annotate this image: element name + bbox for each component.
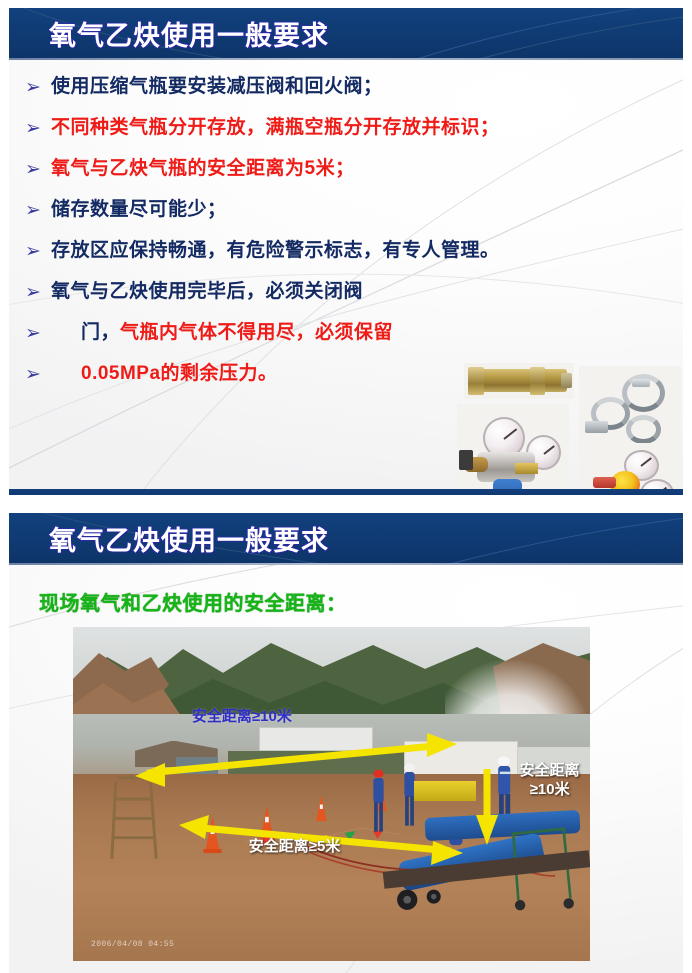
acetylene-stem: [597, 457, 607, 479]
annotation-10m-right: 安全距离 ≥10米: [520, 761, 580, 799]
arrestor-nut-left: [468, 367, 483, 395]
annotation-10m-right-line2: ≥10米: [520, 780, 580, 799]
bullet-item: ➢ 门，气瓶内气体不得用尽，必须保留: [23, 318, 493, 359]
bullet-arrow-icon: ➢: [23, 72, 51, 102]
bullet-item: ➢ 不同种类气瓶分开存放，满瓶空瓶分开存放并标识；: [23, 113, 493, 154]
photo-brass-flashback-arrestor: [464, 363, 574, 399]
bullet-text-red-part: 气瓶内气体不得用尽，必须保留: [120, 322, 393, 343]
bullet-arrow-icon: ➢: [23, 236, 51, 266]
slide-2-subheading: 现场氧气和乙炔使用的安全距离：: [39, 587, 347, 616]
slide-1: 氧气乙炔使用一般要求 ➢ 使用压缩气瓶要安装减压阀和回火阀； ➢ 不同种类气瓶分…: [0, 8, 692, 495]
bullet-arrow-icon: ➢: [23, 359, 51, 389]
slide-2-right-margin: [683, 513, 692, 973]
bullet-item: ➢ 储存数量尽可能少；: [23, 195, 493, 236]
slide-2-title: 氧气乙炔使用一般要求: [49, 519, 329, 558]
bullet-text: 氧气与乙炔使用完毕后，必须关闭阀: [51, 277, 363, 307]
slide-1-header: 氧气乙炔使用一般要求: [9, 8, 683, 60]
bullet-arrow-icon: ➢: [23, 195, 51, 225]
bullet-item: ➢ 使用压缩气瓶要安装减压阀和回火阀；: [23, 72, 493, 113]
bullet-text: 不同种类气瓶分开存放，满瓶空瓶分开存放并标识；: [51, 113, 500, 143]
bullet-item: ➢ 氧气与乙炔使用完毕后，必须关闭阀: [23, 277, 493, 318]
bullet-arrow-icon: ➢: [23, 318, 51, 348]
arrestor-nut-right: [530, 367, 545, 395]
arrestor-body: [471, 369, 568, 391]
slide-1-body: ➢ 使用压缩气瓶要安装减压阀和回火阀； ➢ 不同种类气瓶分开存放，满瓶空瓶分开存…: [9, 60, 683, 479]
clamp-screw-housing: [585, 421, 607, 433]
slide-2-left-margin: [0, 513, 9, 973]
bullet-arrow-icon: ➢: [23, 154, 51, 184]
annotation-10m-overlay: 安全距离≥10米: [192, 705, 292, 726]
bullet-text: 氧气与乙炔气瓶的安全距离为5米；: [51, 154, 355, 184]
slide-1-left-margin: [0, 8, 9, 495]
annotation-5m: 安全距离≥5米: [249, 837, 341, 856]
bullet-list: ➢ 使用压缩气瓶要安装减压阀和回火阀； ➢ 不同种类气瓶分开存放，满瓶空瓶分开存…: [23, 72, 493, 400]
arrow-10m-horizontal: [135, 733, 457, 787]
photo-red-acetylene-regulator: [579, 443, 681, 495]
bullet-text: 使用压缩气瓶要安装减压阀和回火阀；: [51, 72, 383, 102]
bullet-arrow-icon: ➢: [23, 277, 51, 307]
slide-1-title: 氧气乙炔使用一般要求: [49, 14, 329, 53]
regulator-brass-outlet: [515, 463, 537, 474]
photo-timestamp: 2006/04/08 04:55: [91, 940, 174, 949]
bullet-item: ➢ 存放区应保持畅通，有危险警示标志，有专人管理。: [23, 236, 493, 277]
clamp-band-tab: [632, 379, 650, 387]
bullet-text: 储存数量尽可能少；: [51, 195, 227, 225]
bullet-item: ➢ 0.05MPa的剩余压力。: [23, 359, 493, 400]
arrestor-tip: [561, 373, 572, 388]
slide-2-canvas: 氧气乙炔使用一般要求 现场氧气和乙炔使用的安全距离：: [9, 513, 683, 973]
slide-2-header: 氧气乙炔使用一般要求: [9, 513, 683, 565]
slide-1-footer-bar: [9, 489, 683, 495]
bullet-text-navy-part: 门，: [81, 322, 120, 343]
bullet-arrow-icon: ➢: [23, 113, 51, 143]
presentation-page: 氧气乙炔使用一般要求 ➢ 使用压缩气瓶要安装减压阀和回火阀； ➢ 不同种类气瓶分…: [0, 0, 692, 973]
photo-blue-oxygen-regulator: [457, 404, 569, 495]
regulator-black-knob: [459, 450, 472, 470]
bullet-text: 0.05MPa的剩余压力。: [51, 359, 278, 389]
hose-clamp-small: [626, 415, 661, 444]
slide-1-canvas: 氧气乙炔使用一般要求 ➢ 使用压缩气瓶要安装减压阀和回火阀； ➢ 不同种类气瓶分…: [9, 8, 683, 495]
bullet-item: ➢ 氧气与乙炔气瓶的安全距离为5米；: [23, 154, 493, 195]
bullet-text: 存放区应保持畅通，有危险警示标志，有专人管理。: [51, 236, 500, 266]
photo-construction-site-safety-distance: 安全距离≥10米 安全距离 ≥10米 安全距离≥5米 2006/04/08 04…: [73, 627, 590, 961]
annotation-10m-right-line1: 安全距离: [520, 761, 580, 780]
slide-2-body: 现场氧气和乙炔使用的安全距离：: [9, 565, 683, 973]
slide-2: 氧气乙炔使用一般要求 现场氧气和乙炔使用的安全距离：: [0, 513, 692, 973]
slide-1-right-margin: [683, 8, 692, 495]
photo-distance-arrows: [73, 627, 590, 961]
arrow-10m-vertical: [476, 769, 498, 845]
bullet-text: 门，气瓶内气体不得用尽，必须保留: [51, 318, 393, 348]
